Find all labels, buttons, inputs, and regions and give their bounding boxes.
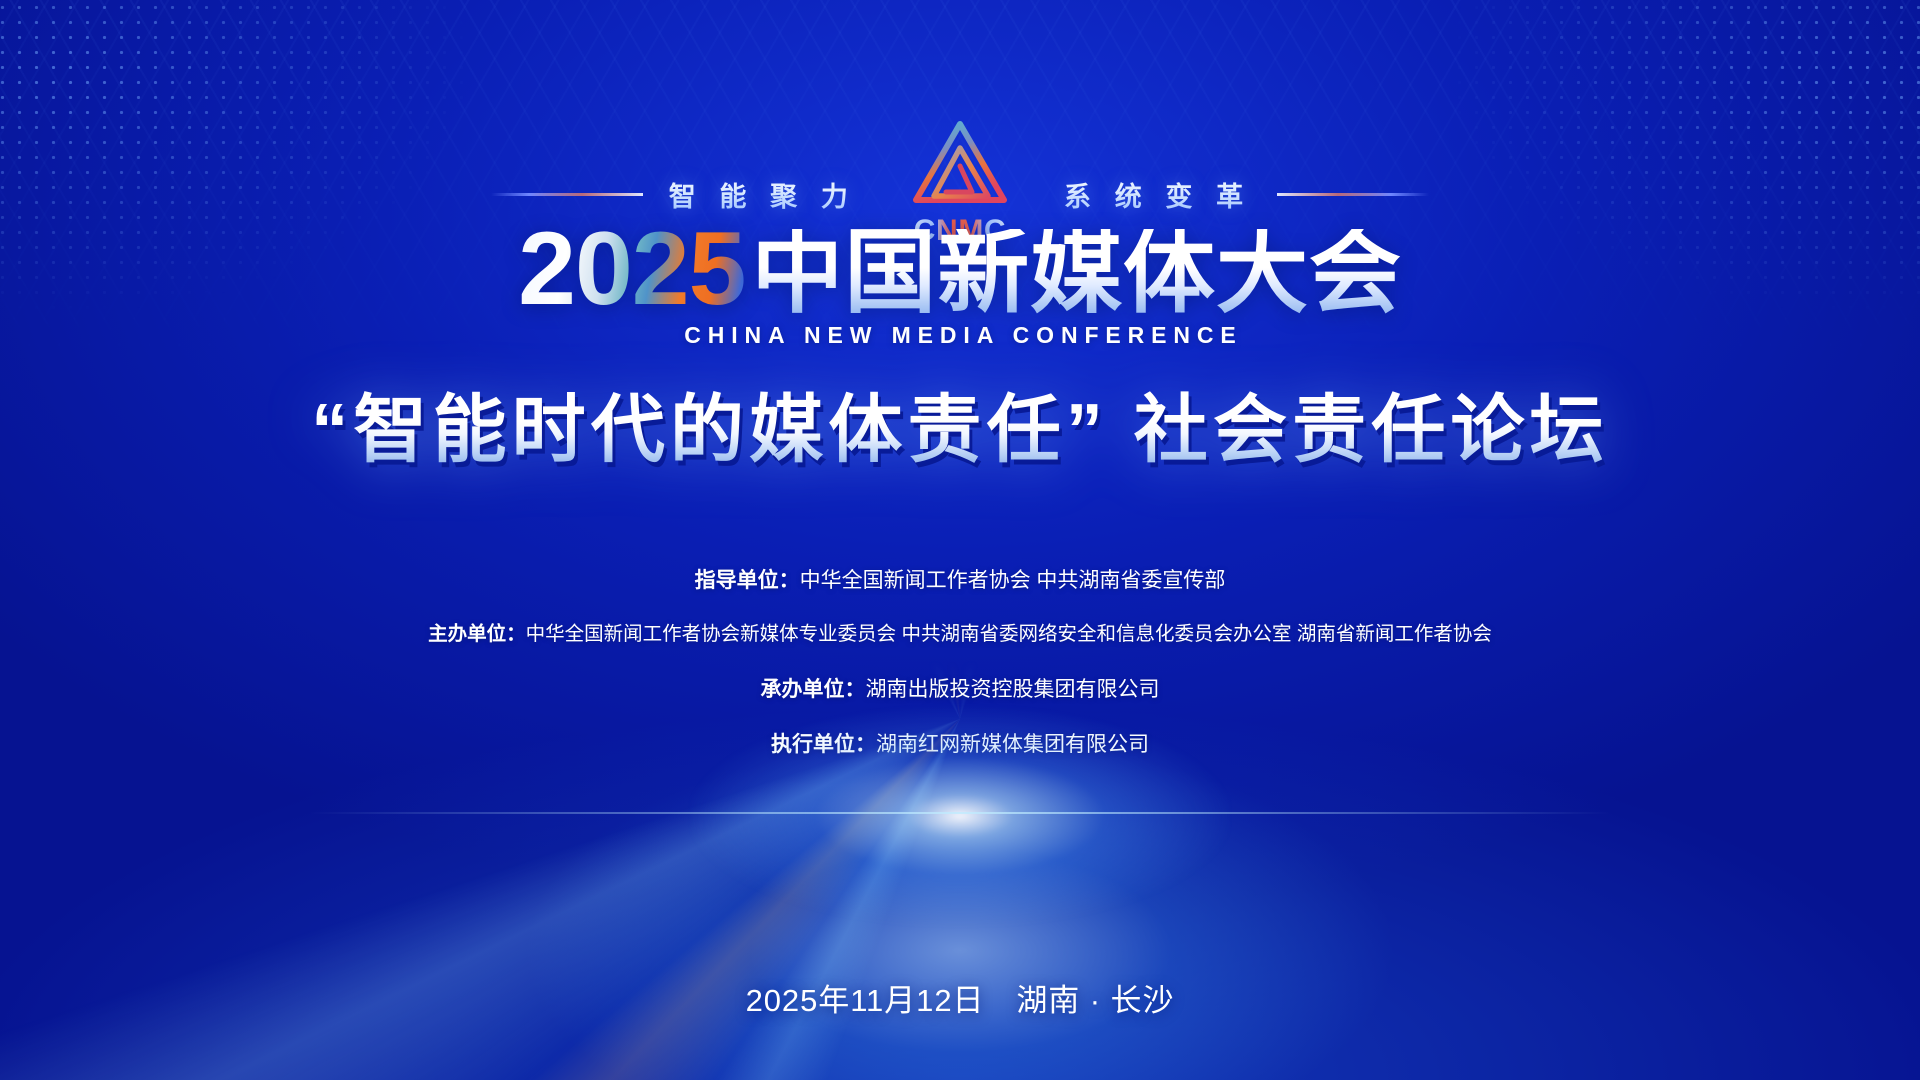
conference-poster: 智 能 聚 力: [0, 0, 1920, 1080]
footer-date-location: 2025年11月12日 湖南 · 长沙: [0, 975, 1920, 1020]
organizer-value: 湖南出版投资控股集团有限公司: [866, 678, 1160, 701]
main-title-chinese: 中国新媒体大会: [751, 229, 1401, 317]
tagline-right-text: 系 统 变 革: [1064, 175, 1251, 214]
tagline-rule-left: [491, 193, 643, 196]
organizer-row-host: 主办单位：中华全国新闻工作者协会新媒体专业委员会 中共湖南省委网络安全和信息化委…: [0, 623, 1920, 646]
organizer-label: 执行单位：: [771, 733, 876, 756]
cnmc-triangle-icon: [896, 112, 1024, 212]
organizer-list: 指导单位：中华全国新闻工作者协会 中共湖南省委宣传部 主办单位：中华全国新闻工作…: [0, 568, 1920, 787]
organizer-row-guidance: 指导单位：中华全国新闻工作者协会 中共湖南省委宣传部: [0, 568, 1920, 593]
tagline-left-text: 智 能 聚 力: [669, 175, 856, 214]
main-title-line: 2025 中国新媒体大会: [0, 222, 1920, 318]
organizer-value: 中华全国新闻工作者协会 中共湖南省委宣传部: [800, 569, 1226, 592]
horizon-line-decoration: [310, 812, 1610, 814]
organizer-label: 指导单位：: [695, 569, 800, 592]
tagline-rule-right: [1277, 193, 1429, 196]
forum-title: “智能时代的媒体责任” 社会责任论坛: [0, 388, 1920, 472]
organizer-label: 承办单位：: [761, 678, 866, 701]
main-title-english: CHINA NEW MEDIA CONFERENCE: [0, 324, 1920, 347]
organizer-value: 湖南红网新媒体集团有限公司: [876, 733, 1149, 756]
organizer-label: 主办单位：: [428, 623, 526, 645]
main-title-year: 2025: [518, 222, 745, 318]
organizer-row-executor: 执行单位：湖南红网新媒体集团有限公司: [0, 732, 1920, 757]
organizer-value: 中华全国新闻工作者协会新媒体专业委员会 中共湖南省委网络安全和信息化委员会办公室…: [526, 623, 1492, 645]
organizer-row-undertaker: 承办单位：湖南出版投资控股集团有限公司: [0, 677, 1920, 702]
main-title-block: 2025 中国新媒体大会 CHINA NEW MEDIA CONFERENCE: [0, 222, 1920, 347]
